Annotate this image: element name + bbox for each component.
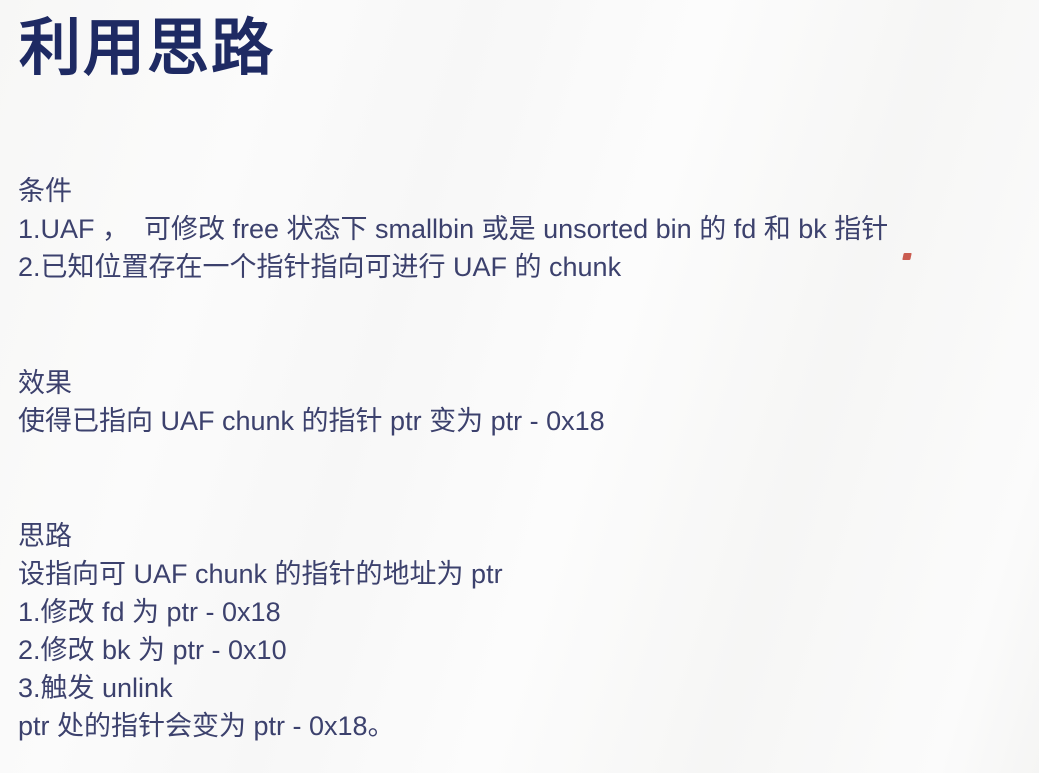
presentation-slide: 利用思路 条件 1.UAF ， 可修改 free 状态下 smallbin 或是…	[0, 0, 1039, 773]
effect-line-1: 使得已指向 UAF chunk 的指针 ptr 变为 ptr - 0x18	[18, 402, 605, 440]
approach-step-2: 2.修改 bk 为 ptr - 0x10	[18, 631, 503, 669]
block-heading-approach: 思路	[18, 517, 503, 555]
condition-line-2: 2.已知位置存在一个指针指向可进行 UAF 的 chunk	[18, 248, 888, 286]
block-heading-conditions: 条件	[18, 172, 888, 210]
approach-result: ptr 处的指针会变为 ptr - 0x18。	[18, 707, 503, 745]
block-heading-effect: 效果	[18, 364, 605, 402]
approach-step-1: 1.修改 fd 为 ptr - 0x18	[18, 593, 503, 631]
approach-line-1: 设指向可 UAF chunk 的指针的地址为 ptr	[18, 555, 503, 593]
content-block-effect: 效果 使得已指向 UAF chunk 的指针 ptr 变为 ptr - 0x18	[18, 364, 605, 440]
slide-title: 利用思路	[19, 14, 275, 83]
approach-step-3: 3.触发 unlink	[18, 669, 503, 707]
red-cursor-mark-icon	[902, 253, 911, 260]
content-block-approach: 思路 设指向可 UAF chunk 的指针的地址为 ptr 1.修改 fd 为 …	[18, 517, 503, 745]
condition-line-1: 1.UAF ， 可修改 free 状态下 smallbin 或是 unsorte…	[18, 210, 888, 248]
content-block-conditions: 条件 1.UAF ， 可修改 free 状态下 smallbin 或是 unso…	[18, 172, 888, 286]
